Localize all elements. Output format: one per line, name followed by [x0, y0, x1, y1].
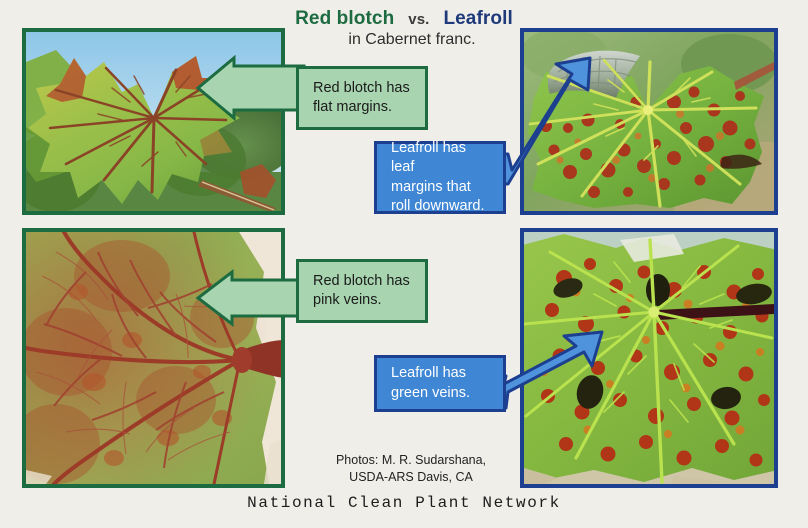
arrow-red-blotch-flat-margins	[196, 58, 304, 118]
title-disease-red-blotch: Red blotch	[295, 8, 394, 29]
callout-flat-line-1: Red blotch has	[313, 79, 410, 98]
callout-pink-line-1: Red blotch has	[313, 272, 410, 291]
callout-leafroll-rolled-margins: Leafroll has leaf margins that roll down…	[374, 141, 506, 214]
callout-flat-line-2: flat margins.	[313, 98, 410, 117]
photo-credits: Photos: M. R. Sudarshana, USDA-ARS Davis…	[296, 452, 526, 486]
arrow-red-blotch-pink-veins	[196, 272, 304, 324]
callout-green-line-1: Leafroll has	[391, 364, 470, 383]
callout-roll-line-1: Leafroll has leaf	[391, 139, 493, 177]
callout-red-blotch-flat-margins: Red blotch has flat margins.	[296, 66, 428, 130]
photo-red-blotch-flat-margins	[22, 28, 285, 215]
photo-red-blotch-pink-veins	[22, 228, 285, 488]
callout-green-line-2: green veins.	[391, 384, 470, 403]
arrow-leafroll-green-veins	[492, 330, 604, 414]
callout-roll-line-3: roll downward.	[391, 197, 493, 216]
title-line-1: Red blotchvs.Leafroll	[0, 8, 808, 30]
callout-leafroll-green-veins: Leafroll has green veins.	[374, 355, 506, 412]
credits-line-2: USDA-ARS Davis, CA	[296, 469, 526, 486]
arrow-leafroll-rolled-margins	[492, 58, 602, 186]
photo-bottom-left-graphic	[26, 232, 281, 484]
title-versus: vs.	[394, 11, 443, 28]
footer-organization: National Clean Plant Network	[0, 494, 808, 512]
callout-red-blotch-pink-veins: Red blotch has pink veins.	[296, 259, 428, 323]
callout-roll-line-2: margins that	[391, 178, 493, 197]
credits-line-1: Photos: M. R. Sudarshana,	[296, 452, 526, 469]
title-disease-leafroll: Leafroll	[443, 8, 512, 29]
slide-root: Red blotchvs.Leafroll in Cabernet franc.	[0, 0, 808, 528]
callout-pink-line-2: pink veins.	[313, 291, 410, 310]
